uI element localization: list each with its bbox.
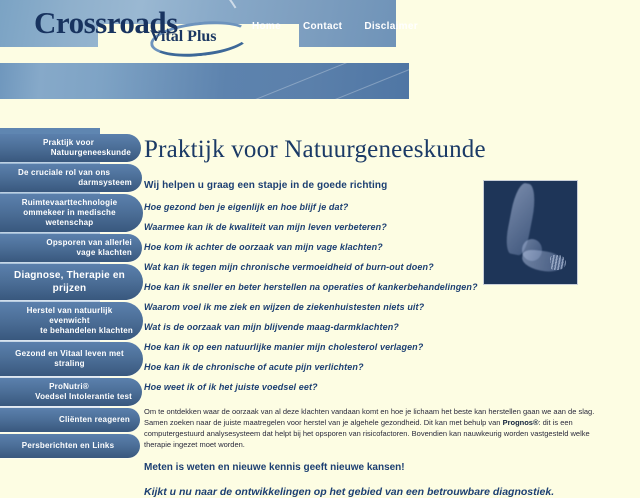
- sidebar-item-ruimtevaarttechnologie[interactable]: Ruimtevaarttechnologie ommekeer in medis…: [0, 194, 143, 232]
- sidebar-item-diagnose-therapie-prijzen[interactable]: Diagnose, Therapie en prijzen: [0, 264, 143, 300]
- tagline-primary: Meten is weten en nieuwe kennis geeft ni…: [144, 462, 614, 473]
- strip-highlight-line-2: [211, 63, 409, 99]
- sidebar-item-opsporen-vage-klachten[interactable]: Opsporen van allerlei vage klachten: [0, 234, 142, 262]
- sidebar-navigation: Praktijk voor Natuurgeneeskunde De cruci…: [0, 134, 146, 460]
- sidebar-item-label-line2: vage klachten: [6, 248, 132, 258]
- sidebar-item-label-line1: ProNutri®: [6, 382, 132, 392]
- sidebar-item-clienten-reageren[interactable]: Cliënten reageren: [0, 408, 140, 432]
- sidebar-item-pronutri-voedsel-intolerantie-test[interactable]: ProNutri® Voedsel Intolerantie test: [0, 378, 142, 406]
- nav-link-disclaimer[interactable]: Disclaimer: [364, 21, 418, 32]
- site-logo-secondary[interactable]: Vital Plus: [150, 28, 217, 46]
- sidebar-item-label-line1: Persberichten en Links: [6, 441, 130, 451]
- question-item: Hoe weet ik of ik het juiste voedsel eet…: [144, 382, 614, 392]
- page-title: Praktijk voor Natuurgeneeskunde: [144, 136, 614, 164]
- top-navigation: Home Contact Disclaimer: [252, 21, 418, 32]
- question-item: Hoe kan ik op een natuurlijke manier mij…: [144, 342, 614, 352]
- question-item: Waarom voel ik me ziek en wijzen de ziek…: [144, 302, 614, 312]
- tagline-secondary: Kijkt u nu naar de ontwikkelingen op het…: [144, 486, 614, 498]
- header-accent-strip: [0, 63, 409, 99]
- leg-and-foot-xray-image: [483, 180, 578, 285]
- body-paragraph: Om te ontdekken waar de oorzaak van al d…: [144, 406, 608, 450]
- sidebar-item-label-line2: darmsysteem: [6, 178, 132, 188]
- sidebar-item-label-line1: Ruimtevaarttechnologie: [6, 198, 133, 208]
- strip-highlight-line-1: [161, 63, 409, 99]
- toes-shape: [550, 255, 566, 270]
- question-item: Wat is de oorzaak van mijn blijvende maa…: [144, 322, 614, 332]
- nav-link-home[interactable]: Home: [252, 21, 281, 32]
- sidebar-item-label-line2: ommekeer in medische wetenschap: [6, 208, 133, 228]
- sidebar-item-label-line1: Herstel van natuurlijk evenwicht: [6, 306, 133, 326]
- sidebar-item-label-line1: Gezond en Vitaal leven met straling: [6, 349, 133, 369]
- sidebar-item-herstel-natuurlijk-evenwicht[interactable]: Herstel van natuurlijk evenwicht te beha…: [0, 302, 143, 340]
- sidebar-item-persberichten-en-links[interactable]: Persberichten en Links: [0, 434, 140, 458]
- sidebar-item-label-line1: De cruciale rol van ons: [6, 168, 132, 178]
- sidebar-item-label-line1: Diagnose, Therapie en prijzen: [6, 269, 133, 295]
- sidebar-item-label-line1: Praktijk voor: [6, 138, 131, 148]
- sidebar-item-darmsysteem[interactable]: De cruciale rol van ons darmsysteem: [0, 164, 142, 192]
- sidebar-item-label-line2: Natuurgeneeskunde: [6, 148, 131, 158]
- question-item: Hoe kan ik de chronische of acute pijn v…: [144, 362, 614, 372]
- sidebar-item-praktijk[interactable]: Praktijk voor Natuurgeneeskunde: [0, 134, 141, 162]
- sidebar-item-gezond-vitaal-straling[interactable]: Gezond en Vitaal leven met straling: [0, 342, 143, 376]
- sidebar-item-label-line1: Opsporen van allerlei: [6, 238, 132, 248]
- sidebar-item-label-line2: Voedsel Intolerantie test: [6, 392, 132, 402]
- nav-link-contact[interactable]: Contact: [303, 21, 342, 32]
- sidebar-item-label-line2: te behandelen klachten: [6, 326, 133, 336]
- prognos-brand-name: Prognos®: [503, 418, 539, 427]
- sidebar-item-label-line1: Cliënten reageren: [6, 415, 130, 425]
